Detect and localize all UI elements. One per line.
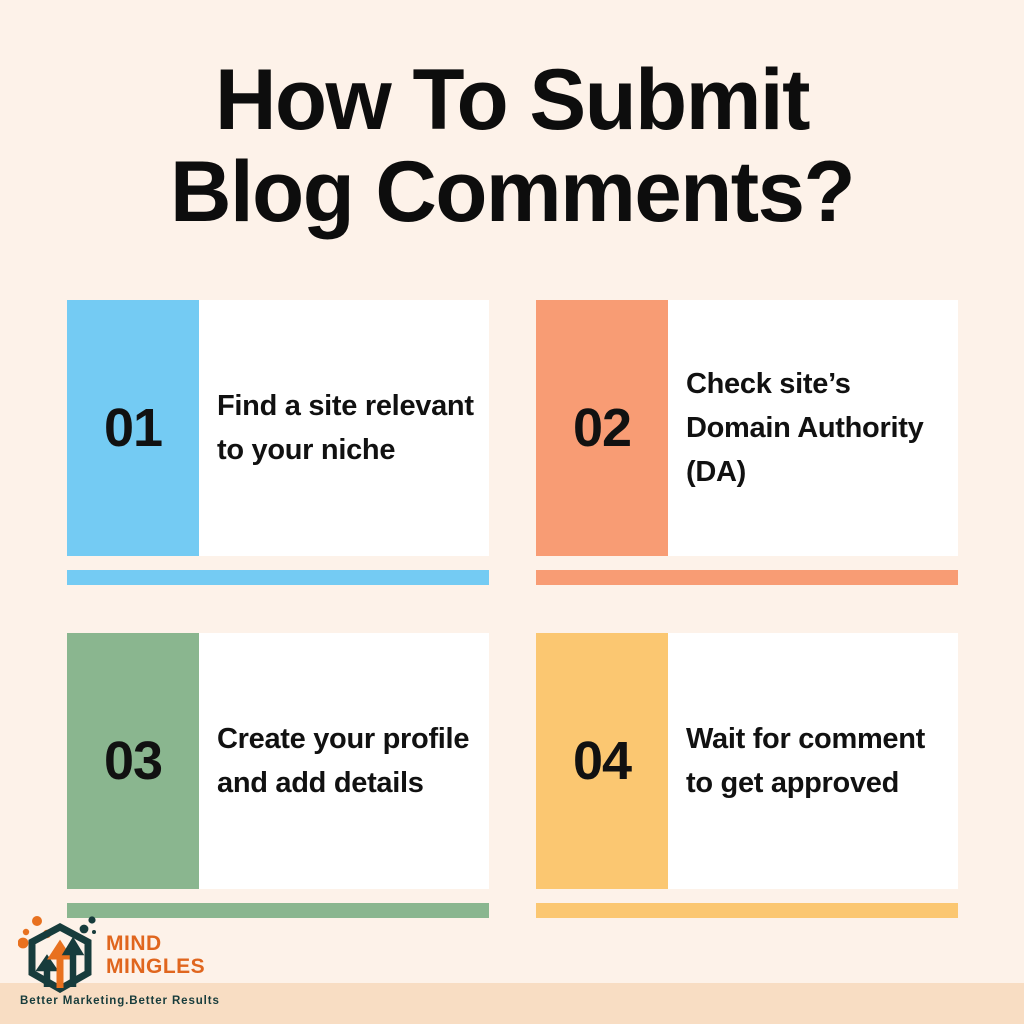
step-card-body: 01 Find a site relevant to your niche: [67, 300, 489, 556]
step-description: Check site’s Domain Authority (DA): [686, 362, 944, 494]
step-number: 03: [104, 734, 162, 788]
step-number-block: 01: [67, 300, 199, 556]
brand-logo[interactable]: MIND MINGLES Better Marketing.Better Res…: [18, 915, 218, 1015]
step-number-block: 03: [67, 633, 199, 889]
brand-name-line-2: MINGLES: [106, 956, 205, 979]
step-text-area: Create your profile and add details: [199, 633, 489, 889]
infographic-poster: How To Submit Blog Comments? 01 Find a s…: [0, 0, 1024, 1024]
step-number: 04: [573, 734, 631, 788]
brand-tagline: Better Marketing.Better Results: [20, 995, 220, 1007]
brand-name-line-1: MIND: [106, 933, 205, 956]
step-accent-bar: [67, 570, 489, 585]
step-description: Find a site relevant to your niche: [217, 384, 475, 472]
brand-name: MIND MINGLES: [106, 933, 205, 978]
step-card-04[interactable]: 04 Wait for comment to get approved: [536, 633, 958, 889]
step-card-body: 02 Check site’s Domain Authority (DA): [536, 300, 958, 556]
step-card-02[interactable]: 02 Check site’s Domain Authority (DA): [536, 300, 958, 556]
step-card-03[interactable]: 03 Create your profile and add details: [67, 633, 489, 889]
step-accent-bar: [536, 570, 958, 585]
step-number: 01: [104, 401, 162, 455]
step-description: Wait for comment to get approved: [686, 717, 944, 805]
step-card-01[interactable]: 01 Find a site relevant to your niche: [67, 300, 489, 556]
step-card-body: 04 Wait for comment to get approved: [536, 633, 958, 889]
step-text-area: Check site’s Domain Authority (DA): [668, 300, 958, 556]
step-text-area: Find a site relevant to your niche: [199, 300, 489, 556]
step-text-area: Wait for comment to get approved: [668, 633, 958, 889]
title-line-2: Blog Comments?: [5, 150, 1019, 234]
step-number-block: 04: [536, 633, 668, 889]
step-number-block: 02: [536, 300, 668, 556]
step-accent-bar: [536, 903, 958, 918]
step-description: Create your profile and add details: [217, 717, 475, 805]
hexagon-arrows-logo-icon: [18, 915, 102, 993]
steps-grid: 01 Find a site relevant to your niche 02…: [67, 300, 957, 924]
step-number: 02: [573, 401, 631, 455]
page-title: How To Submit Blog Comments?: [5, 58, 1019, 235]
title-line-1: How To Submit: [5, 58, 1019, 142]
step-card-body: 03 Create your profile and add details: [67, 633, 489, 889]
